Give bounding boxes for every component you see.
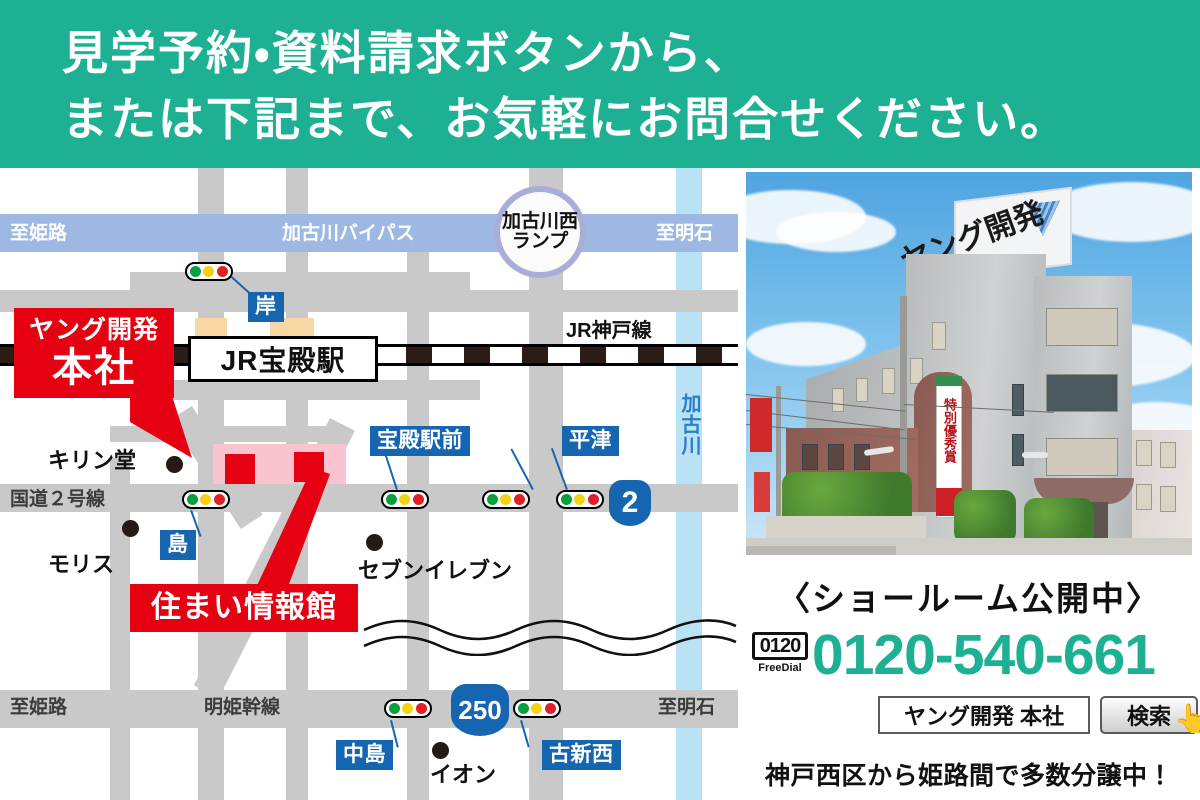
intersection-label-shima[interactable]: 島 — [160, 530, 196, 560]
search-row[interactable]: ヤング開発 本社 検索 👆 — [878, 696, 1198, 736]
signal-nakashima — [384, 699, 432, 718]
photo-banner-top — [936, 376, 962, 386]
route-shield-2: 2 — [609, 480, 651, 526]
callout-pointer-head-office — [130, 396, 260, 466]
callout-pointer-sumai — [250, 468, 360, 598]
photo-neighbor-sign — [750, 398, 772, 452]
phone-row[interactable]: 0120 FreeDial 0120-540-661 — [752, 626, 1192, 688]
signal-green-icon — [389, 703, 400, 714]
freedial-logo: 0120 FreeDial — [752, 632, 808, 678]
signal-red-icon — [416, 703, 427, 714]
signal-hodenekimae — [381, 490, 429, 509]
poi-dot-seven-eleven — [366, 534, 383, 551]
poi-dot-morris — [122, 520, 139, 537]
signal-yellow-icon — [574, 494, 585, 505]
photo-window — [1136, 440, 1152, 466]
signal-green-icon — [518, 703, 529, 714]
road-label-meiki-east: 至明石 — [658, 698, 715, 717]
ramp-label-line2: ランプ — [512, 232, 568, 252]
photo-window-row — [1046, 308, 1118, 346]
bypass-to-east-label: 至明石 — [656, 224, 713, 243]
road-label-meiki-west: 至姫路 — [10, 698, 67, 717]
freedial-caption: FreeDial — [758, 662, 801, 674]
signal-red-icon — [214, 494, 225, 505]
poi-name-aeon: イオン — [430, 764, 496, 786]
road-label-meiki: 明姫幹線 — [204, 698, 280, 717]
road-meiki-trunk — [0, 690, 738, 728]
ramp-badge-kakogawa-west[interactable]: 加古川西 ランプ — [494, 186, 586, 278]
photo-window — [854, 444, 870, 470]
photo-window — [932, 322, 946, 350]
intersection-label-hiratsu[interactable]: 平津 — [562, 426, 619, 456]
freedial-number-mark: 0120 — [752, 632, 808, 660]
signal-hiratsu — [556, 490, 604, 509]
signal-red-icon — [514, 494, 525, 505]
photo-window — [828, 444, 844, 470]
ramp-label-line1: 加古川西 — [502, 212, 578, 232]
pointing-hand-icon: 👆 — [1174, 702, 1200, 735]
signal-green-icon — [187, 494, 198, 505]
bypass-to-west-label: 至姫路 — [10, 224, 67, 243]
photo-street-lamp — [1022, 452, 1048, 458]
signal-shima — [182, 490, 230, 509]
route-shield-250: 250 — [451, 684, 509, 736]
signal-yellow-icon — [203, 266, 214, 277]
signal-yellow-icon — [500, 494, 511, 505]
signal-green-icon — [386, 494, 397, 505]
showroom-heading: 〈ショールーム公開中〉 — [738, 572, 1200, 620]
photo-cloud — [776, 212, 896, 252]
photo-window — [1160, 442, 1176, 468]
photo-window — [856, 378, 868, 402]
search-input[interactable]: ヤング開発 本社 — [878, 696, 1090, 734]
signal-red-icon — [217, 266, 228, 277]
signal-red-icon — [588, 494, 599, 505]
signal-green-icon — [487, 494, 498, 505]
photo-window-row — [1046, 438, 1118, 476]
photo-cloud — [746, 322, 866, 366]
poi-name-kirindo: キリン堂 — [48, 450, 136, 472]
intersection-label-nakashima[interactable]: 中島 — [336, 740, 393, 770]
office-building-photo: ヤング開発 — [746, 172, 1192, 555]
signal-middle — [482, 490, 530, 509]
bypass-name-label: 加古川バイパス — [282, 224, 415, 243]
poi-dot-aeon — [432, 742, 449, 759]
signal-green-icon — [190, 266, 201, 277]
road-label-route2: 国道２号線 — [10, 490, 105, 509]
callout-head-office-line1: ヤング開発 — [29, 318, 159, 343]
callout-head-office-line2: 本社 — [52, 348, 136, 388]
photo-window — [802, 444, 818, 470]
river-wave-break — [362, 616, 738, 656]
intersection-label-hodenekimae[interactable]: 宝殿駅前 — [370, 426, 470, 456]
tagline: 神戸西区から姫路間で多数分譲中！ — [738, 756, 1200, 792]
photo-window-row — [1046, 374, 1118, 412]
railway-line-label: JR神戸線 — [566, 314, 652, 343]
signal-kishi — [185, 262, 233, 281]
river-label: 加古川 — [678, 393, 699, 456]
header-line-1: 見学予約・資料請求ボタンから、 — [62, 30, 752, 76]
signal-yellow-icon — [399, 494, 410, 505]
signal-red-icon — [413, 494, 424, 505]
access-map-page: 見学予約・資料請求ボタンから、 または下記まで、お気軽にお問合せください。 加古… — [0, 0, 1200, 800]
header-line-2: または下記まで、お気軽にお問合せください。 — [62, 96, 1068, 142]
road-horizontal-station-north — [130, 272, 470, 290]
callout-sumai-joho-kan[interactable]: 住まい情報館 — [130, 584, 358, 632]
signal-yellow-icon — [402, 703, 413, 714]
signal-yellow-icon — [200, 494, 211, 505]
station-label-hoden[interactable]: JR宝殿駅 — [188, 336, 378, 382]
photo-neighbor-sign — [754, 472, 770, 512]
intersection-label-koshinnishi[interactable]: 古新西 — [542, 740, 621, 770]
photo-window — [1160, 486, 1176, 512]
callout-head-office[interactable]: ヤング開発 本社 — [14, 308, 174, 398]
header-banner: 見学予約・資料請求ボタンから、 または下記まで、お気軽にお問合せください。 — [0, 0, 1200, 168]
intersection-label-kishi[interactable]: 岸 — [248, 292, 284, 322]
poi-name-seven-eleven: セブンイレブン — [358, 560, 512, 582]
photo-street — [746, 546, 896, 555]
signal-koshinnishi — [513, 699, 561, 718]
poi-name-morris: モリス — [48, 554, 114, 576]
signal-yellow-icon — [531, 703, 542, 714]
photo-shrub — [954, 490, 1016, 544]
signal-red-icon — [545, 703, 556, 714]
photo-window — [1136, 484, 1152, 510]
photo-window — [832, 388, 844, 412]
photo-utility-pole — [776, 386, 781, 536]
signal-green-icon — [561, 494, 572, 505]
photo-window — [882, 368, 895, 394]
photo-window — [1012, 434, 1024, 466]
contact-panel: ヤング開発 — [738, 168, 1200, 800]
phone-number[interactable]: 0120-540-661 — [812, 622, 1155, 688]
access-map[interactable]: 加古川 至姫路 加古川バイパス 至明石 加古川西 ランプ JR神戸線 JR宝殿駅 — [0, 168, 738, 800]
poi-dot-kirindo — [166, 456, 183, 473]
